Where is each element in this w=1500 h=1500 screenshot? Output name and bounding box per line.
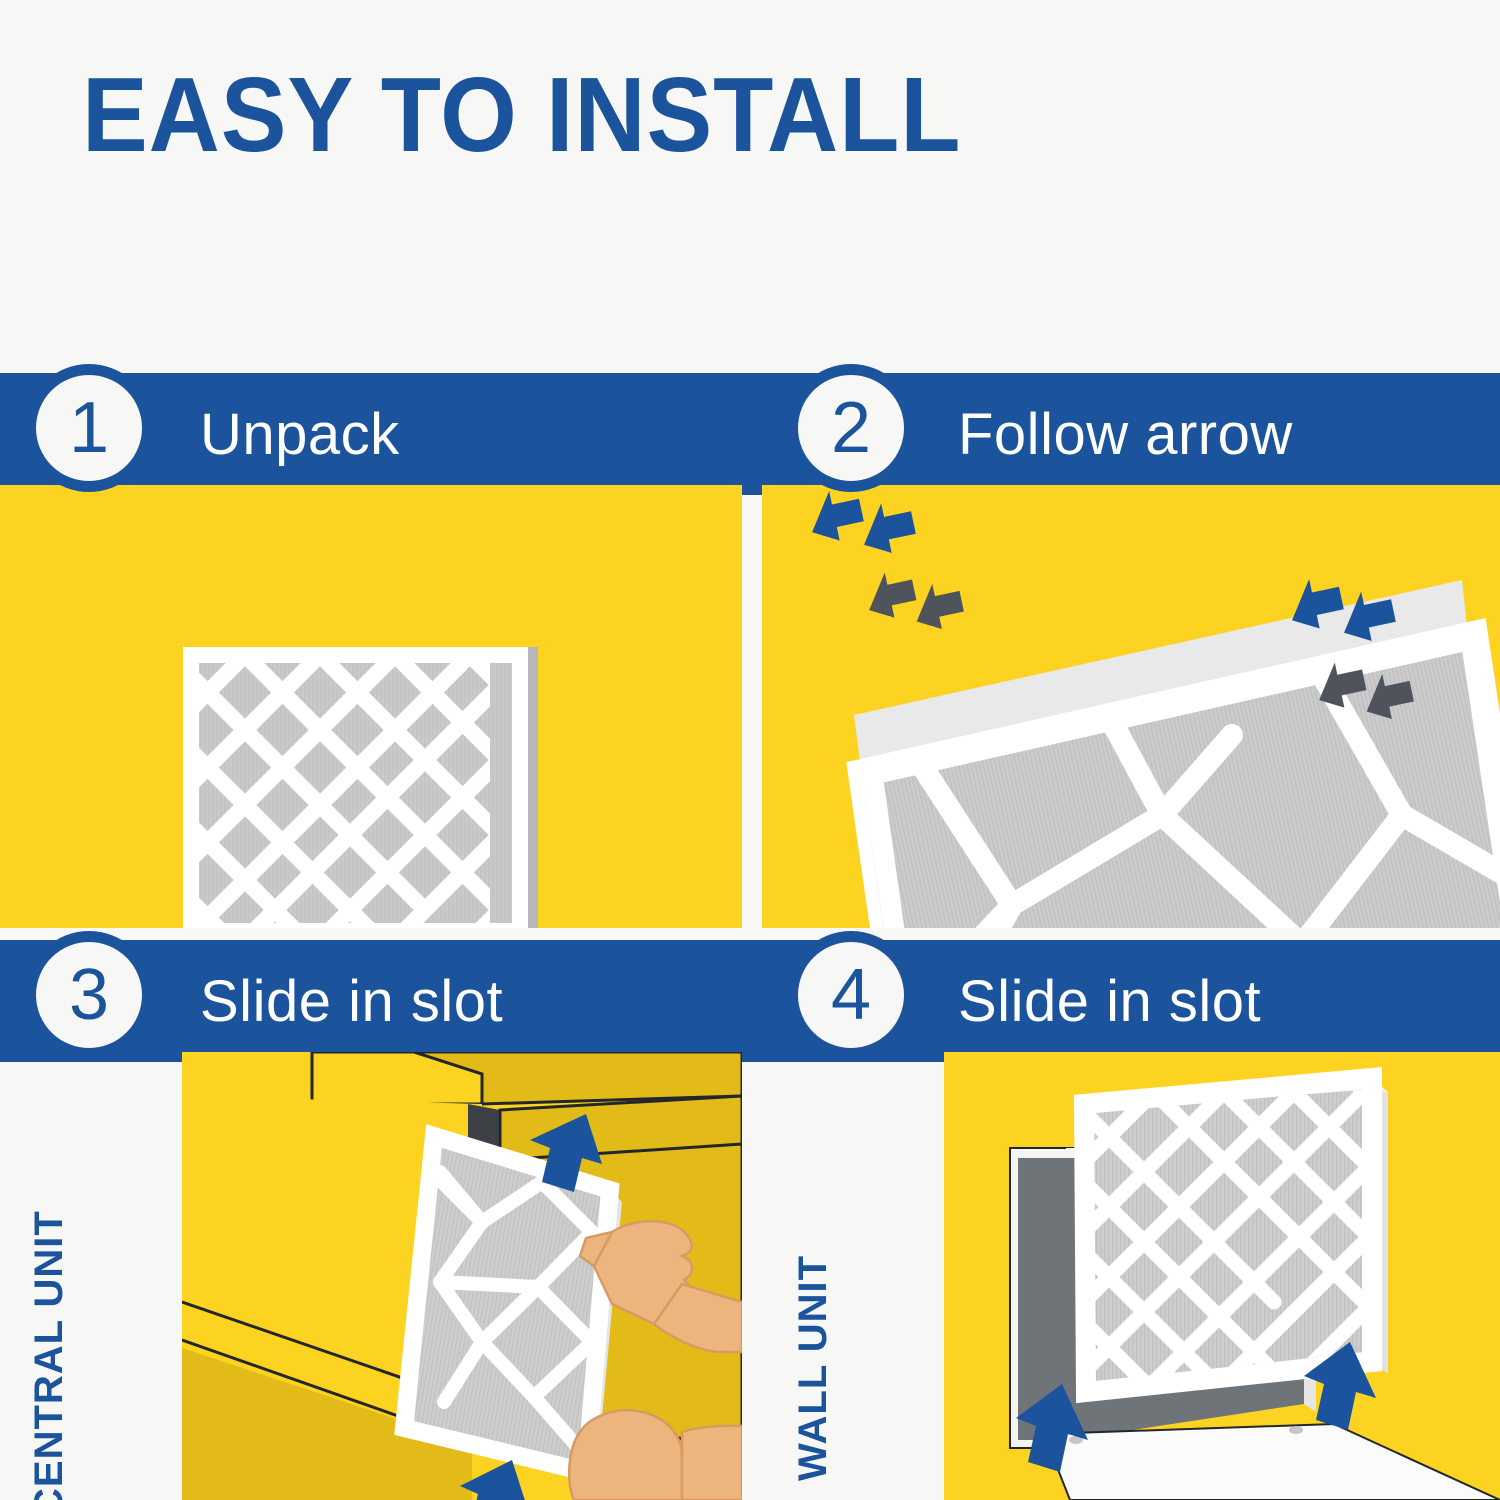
blue-airflow-arrow-left-icon [804, 485, 918, 568]
step-1-label: Unpack [200, 373, 400, 495]
step-2-illustration [762, 485, 1500, 928]
step-3-number: 3 [69, 954, 109, 1036]
step-4-number: 4 [831, 954, 871, 1036]
step-4-label: Slide in slot [958, 940, 1261, 1062]
step-4-illustration [944, 1052, 1500, 1500]
column-divider-bottom [742, 940, 762, 1062]
central-unit-label: CENTRAL UNIT [27, 1210, 72, 1500]
step-2-number-badge: 2 [787, 364, 915, 492]
infographic-canvas: EASY TO INSTALL Unpack [0, 0, 1500, 1500]
step-2-label: Follow arrow [958, 373, 1293, 495]
step-3-number-badge: 3 [25, 931, 153, 1059]
step-1-illustration [0, 485, 742, 928]
step-3-illustration [182, 1052, 742, 1500]
page-title: EASY TO INSTALL [82, 62, 961, 168]
column-divider-top [742, 373, 762, 495]
wall-unit-label: WALL UNIT [791, 1255, 836, 1481]
step-1-number: 1 [69, 387, 109, 469]
step-3-label: Slide in slot [200, 940, 503, 1062]
step-4-number-badge: 4 [787, 931, 915, 1059]
step-2-number: 2 [831, 387, 871, 469]
step-1-number-badge: 1 [25, 364, 153, 492]
